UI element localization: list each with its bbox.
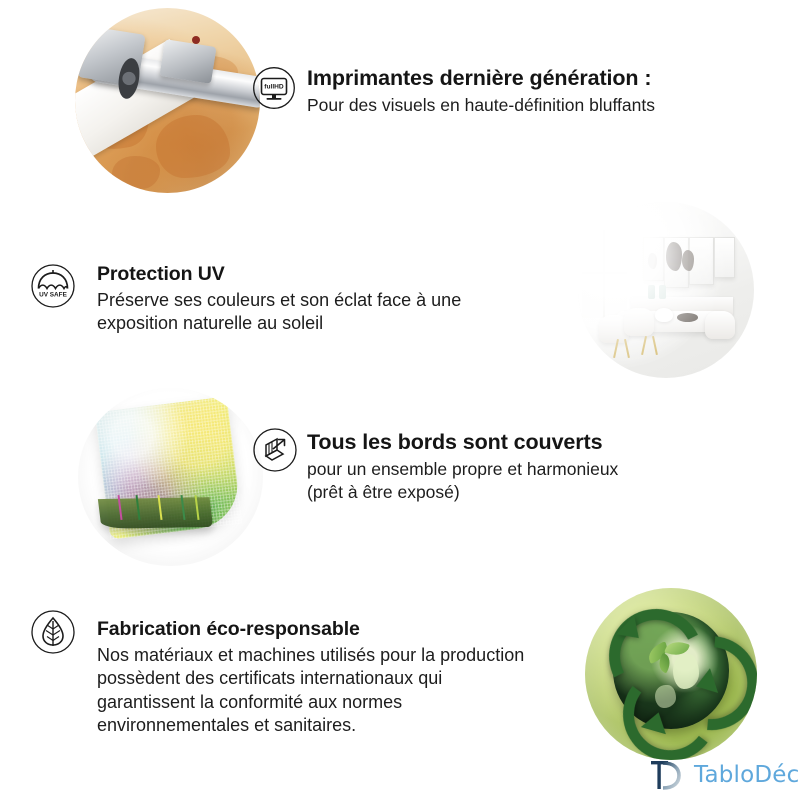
leaf-icon xyxy=(30,609,76,660)
chair-leg xyxy=(652,336,658,355)
bright-dining-room-photo xyxy=(578,202,754,378)
teapot xyxy=(655,308,673,322)
feature-description: Nos matériaux et machines utilisés pour … xyxy=(97,644,524,738)
tray xyxy=(677,313,698,322)
window-mullion xyxy=(603,230,605,318)
wall-art-panel xyxy=(714,237,735,278)
svg-text:UV SAFE: UV SAFE xyxy=(39,291,67,298)
feature-text-edges: Tous les bords sont couverts pour un ens… xyxy=(307,430,618,504)
fullhd-monitor-icon: fullHD xyxy=(252,66,296,115)
artwork-ink-shape xyxy=(648,253,657,269)
feature-description-line: garantissent la conformité aux normes xyxy=(97,691,524,714)
vase xyxy=(659,285,666,299)
chair xyxy=(624,308,654,336)
infographic-canvas: fullHD UV SAFE xyxy=(0,0,800,800)
feature-text-uv: Protection UV Préserve ses couleurs et s… xyxy=(97,263,461,336)
vase xyxy=(648,285,655,299)
feature-description-line: possèdent des certificats internationaux… xyxy=(97,667,524,690)
feature-title: Protection UV xyxy=(97,263,461,286)
feature-description: Pour des visuels en haute-définition blu… xyxy=(307,94,655,117)
feature-description-line: Préserve ses couleurs et son éclat face … xyxy=(97,289,461,312)
artwork-ink-shape xyxy=(666,242,682,270)
logo-wordmark: TabloDéco™.fr xyxy=(694,762,800,788)
map-landmass xyxy=(112,156,160,189)
feature-title: Fabrication éco-responsable xyxy=(97,618,524,641)
printer-roller-map-photo xyxy=(75,8,260,193)
feature-description-line: (prêt à être exposé) xyxy=(307,481,618,504)
td-monogram-icon xyxy=(648,757,688,793)
chair xyxy=(705,311,735,339)
feature-title: Imprimantes dernière génération : xyxy=(307,66,655,91)
chair-leg xyxy=(641,336,647,355)
feature-description-line: Pour des visuels en haute-définition blu… xyxy=(307,94,655,117)
indicator-dot xyxy=(192,36,200,44)
artwork-ink-shape xyxy=(682,250,694,271)
wrapped-edge-icon xyxy=(252,427,298,478)
feature-title: Tous les bords sont couverts xyxy=(307,430,618,455)
feature-description-line: environnementales et sanitaires. xyxy=(97,714,524,737)
tablodeco-logo[interactable]: TabloDéco™.fr xyxy=(648,757,800,793)
svg-text:fullHD: fullHD xyxy=(264,84,284,91)
feature-text-printer: Imprimantes dernière génération : Pour d… xyxy=(307,66,655,117)
feature-description-line: Nos matériaux et machines utilisés pour … xyxy=(97,644,524,667)
feature-description-line: exposition naturelle au soleil xyxy=(97,312,461,335)
uv-safe-umbrella-icon: UV SAFE xyxy=(30,263,76,314)
logo-wordmark-text: TabloDéco xyxy=(694,762,800,788)
feature-text-eco: Fabrication éco-responsable Nos matériau… xyxy=(97,618,524,738)
feature-description: pour un ensemble propre et harmonieux (p… xyxy=(307,458,618,504)
canvas-corner-photo xyxy=(78,388,263,566)
map-landmass xyxy=(156,115,230,178)
chair-leg xyxy=(624,339,630,358)
feature-description: Préserve ses couleurs et son éclat face … xyxy=(97,289,461,336)
eco-globe-recycling-photo xyxy=(585,588,757,760)
feature-description-line: pour un ensemble propre et harmonieux xyxy=(307,458,618,481)
